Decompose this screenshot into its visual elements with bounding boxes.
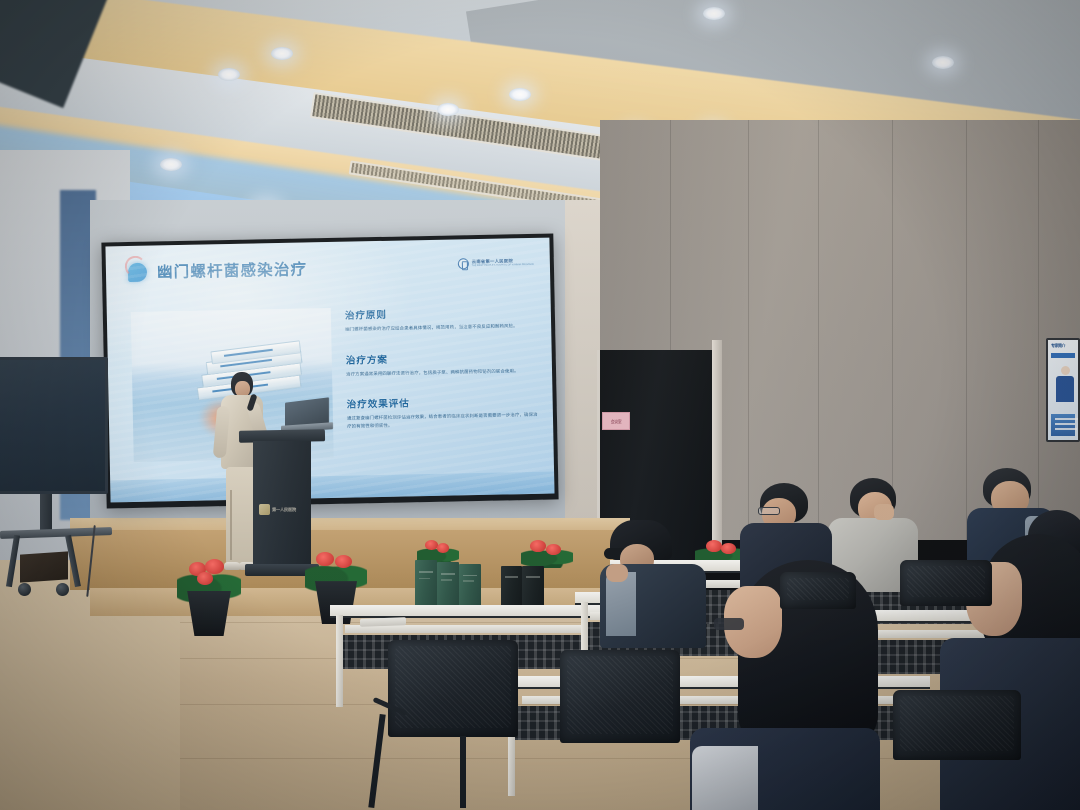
hospital-emblem-icon: [458, 258, 469, 269]
slide-section-2: 治疗方案 治疗方案通常采用四联疗法进行治疗，包括质子泵、两种抗菌药物和铋剂的联合…: [346, 349, 538, 379]
section-body: 幽门螺杆菌感染的治疗应结合患者具体情况，规范用药，当注意不良反应和耐药风险。: [345, 322, 537, 334]
flower-bloom: [197, 572, 213, 585]
projection-screen: 幽门螺杆菌感染治疗 云南省第一人民医院 THE FIRST PEOPLE'S H…: [101, 233, 558, 508]
section-body: 通过复查幽门螺杆菌检测评估治疗效果，结合患者的临床症状判断是否需要进一步治疗，确…: [347, 411, 539, 430]
podium-emblem-icon: [259, 504, 270, 515]
section-heading: 治疗原则: [345, 304, 537, 322]
presentation-slide: 幽门螺杆菌感染治疗 云南省第一人民医院 THE FIRST PEOPLE'S H…: [105, 238, 554, 503]
ceiling-spotlight: [271, 47, 293, 60]
ceiling-spotlight: [932, 56, 954, 69]
chair[interactable]: [388, 640, 518, 808]
person-shoulder: [692, 746, 758, 810]
chair-leg: [460, 736, 466, 808]
chair[interactable]: [780, 572, 856, 636]
wall-info-display: 专家简介: [1046, 338, 1080, 442]
slide-title: 幽门螺杆菌感染治疗: [157, 257, 308, 282]
mobile-tv-display[interactable]: [0, 357, 112, 567]
presenter-leg-seam: [230, 490, 232, 560]
chair[interactable]: [893, 690, 1021, 810]
chair-back[interactable]: [388, 640, 518, 737]
flower-bloom: [721, 543, 736, 554]
wall-display-bar: [1051, 353, 1075, 358]
chair-back[interactable]: [780, 572, 856, 609]
section-heading: 治疗方案: [346, 349, 538, 367]
slide-section-1: 治疗原则 幽门螺杆菌感染的治疗应结合患者具体情况，规范用药，当注意不良反应和耐药…: [345, 304, 537, 334]
table-leg: [336, 615, 343, 707]
slide-sections: 治疗原则 幽门螺杆菌感染的治疗应结合患者具体情况，规范用药，当注意不良反应和耐药…: [345, 304, 540, 450]
slide-header: 幽门螺杆菌感染治疗: [128, 257, 308, 283]
tv-screen[interactable]: [0, 357, 108, 494]
conference-room-photo: 会议室 专家简介 幽: [0, 0, 1080, 810]
ceiling-spotlight: [703, 7, 725, 20]
glasses-icon: [714, 618, 744, 630]
equipment-box: [20, 551, 68, 582]
door-frame: [712, 340, 722, 570]
flower-bloom: [546, 544, 561, 555]
caster-wheel: [56, 583, 69, 596]
person-hand: [874, 504, 894, 520]
chair-back[interactable]: [560, 650, 680, 743]
podium-logo: 第一人民医院: [259, 502, 305, 517]
ceiling-spotlight: [218, 68, 240, 81]
wall-display-title: 专家简介: [1051, 343, 1075, 351]
bullet-ring-icon: [125, 256, 146, 277]
chair-back[interactable]: [893, 690, 1021, 760]
wall-display-portrait: [1056, 366, 1074, 412]
chair-back[interactable]: [900, 560, 992, 606]
potted-plant: [183, 558, 235, 636]
ceiling-spotlight: [509, 88, 531, 101]
glasses-icon: [758, 507, 780, 515]
ceiling-spotlight: [437, 103, 459, 116]
chair[interactable]: [900, 560, 992, 640]
audience-member: [600, 520, 708, 648]
flower-bloom: [530, 540, 546, 552]
bullet-dot-icon: [128, 262, 147, 281]
flower-bloom: [335, 555, 352, 568]
flower-bloom: [706, 540, 722, 552]
section-body: 治疗方案通常采用四联疗法进行治疗，包括质子泵、两种抗菌药物和铋剂的联合使用。: [346, 367, 538, 379]
plant-pot: [183, 591, 235, 636]
slide-section-3: 治疗效果评估 通过复查幽门螺杆菌检测评估治疗效果，结合患者的临床症状判断是否需要…: [347, 393, 540, 430]
hospital-name-en: THE FIRST PEOPLE'S HOSPITAL OF YUNNAN PR…: [472, 263, 534, 267]
person-hand: [606, 564, 628, 582]
chair[interactable]: [560, 650, 680, 810]
section-heading: 治疗效果评估: [347, 393, 539, 411]
flower-bloom: [316, 552, 334, 566]
tv-stand-neck: [40, 494, 52, 534]
door-sign: 会议室: [602, 412, 630, 430]
screen-frame: 幽门螺杆菌感染治疗 云南省第一人民医院 THE FIRST PEOPLE'S H…: [101, 233, 558, 508]
flower-bloom: [437, 543, 449, 553]
hospital-logo: 云南省第一人民医院 THE FIRST PEOPLE'S HOSPITAL OF…: [458, 257, 534, 270]
wall-display-footer: [1051, 414, 1075, 436]
ceiling-spotlight: [160, 158, 182, 171]
podium-logo-text: 第一人民医院: [272, 507, 296, 513]
paper-on-table: [360, 617, 406, 627]
slide-footer-band: [110, 472, 554, 503]
caster-wheel: [18, 583, 31, 596]
